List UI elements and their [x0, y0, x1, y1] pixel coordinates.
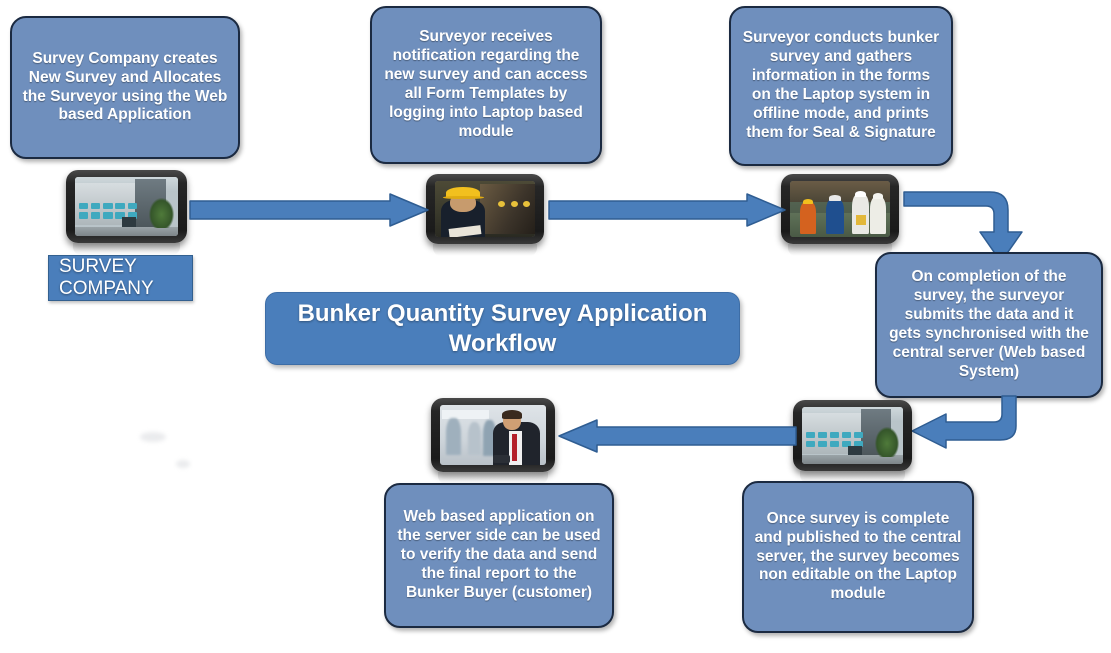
arrow-4-5: [912, 396, 1016, 448]
process-box-step-6-text: Web based application on the server side…: [396, 508, 602, 603]
diagram-title: Bunker Quantity Survey Application Workf…: [265, 292, 740, 365]
process-box-step-1[interactable]: Survey Company creates New Survey and Al…: [10, 16, 240, 159]
background-artifact: [176, 460, 190, 468]
process-box-step-3-text: Surveyor conducts bunker survey and gath…: [741, 29, 941, 142]
tablet-crew-icon: [781, 174, 899, 244]
process-box-step-1-text: Survey Company creates New Survey and Al…: [22, 50, 228, 126]
tablet-businessman-icon: [431, 398, 555, 472]
diagram-title-text: Bunker Quantity Survey Application Workf…: [282, 299, 723, 358]
survey-company-caption-line-2: COMPANY: [59, 278, 154, 300]
process-box-step-4-text: On completion of the survey, the surveyo…: [887, 268, 1091, 381]
survey-company-caption-line-1: SURVEY: [59, 256, 154, 278]
background-artifact: [140, 432, 166, 442]
workflow-diagram: Survey Company creates New Survey and Al…: [0, 0, 1111, 653]
tablet-building-icon: [66, 170, 187, 243]
tablet-building-icon-secondary: [793, 400, 912, 471]
tablet-surveyor-icon: [426, 174, 544, 244]
process-box-step-4[interactable]: On completion of the survey, the surveyo…: [875, 252, 1103, 398]
arrow-1-2: [190, 194, 428, 226]
arrow-2-3: [549, 194, 785, 226]
process-box-step-5-text: Once survey is complete and published to…: [754, 510, 962, 605]
process-box-step-2[interactable]: Surveyor receives notification regarding…: [370, 6, 602, 164]
process-box-step-2-text: Surveyor receives notification regarding…: [382, 28, 590, 141]
survey-company-caption: SURVEY COMPANY: [48, 255, 193, 301]
process-box-step-6[interactable]: Web based application on the server side…: [384, 483, 614, 628]
process-box-step-3[interactable]: Surveyor conducts bunker survey and gath…: [729, 6, 953, 166]
arrow-5-6: [559, 420, 796, 452]
process-box-step-5[interactable]: Once survey is complete and published to…: [742, 481, 974, 633]
